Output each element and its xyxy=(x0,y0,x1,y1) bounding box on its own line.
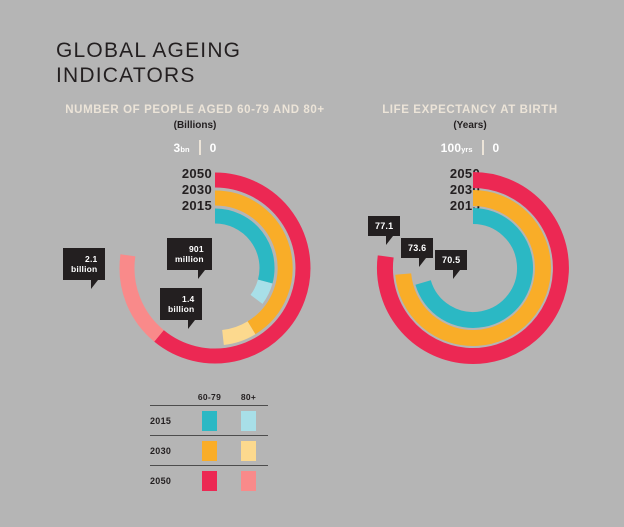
chart-legend: 60-79 80+ 2015 2030 2050 xyxy=(150,392,268,495)
legend-column-80-plus: 80+ xyxy=(229,392,268,402)
legend-row-2050: 2050 xyxy=(150,465,268,495)
callout-2050-life: 77.1 xyxy=(368,216,400,236)
callout-2015-life: 70.5 xyxy=(435,250,467,270)
arc-2050-80-plus xyxy=(127,255,159,336)
legend-swatch-2030-80-plus xyxy=(241,441,256,461)
callout-2050-value: 2.1 xyxy=(85,254,97,264)
legend-year-2015: 2015 xyxy=(150,416,190,426)
callout-2030-people: 1.4 billion xyxy=(160,288,202,320)
infographic-page: GLOBAL AGEING INDICATORS NUMBER OF PEOPL… xyxy=(0,0,624,527)
legend-cell-2050-80-plus xyxy=(229,471,268,491)
callout-2050-unit: billion xyxy=(71,264,97,274)
legend-cell-2015-60-79 xyxy=(190,411,229,431)
panel-life-expectancy: LIFE EXPECTANCY AT BIRTH (Years) 100yrs … xyxy=(340,0,600,380)
callout-2015-life-value: 70.5 xyxy=(442,255,460,265)
callout-2015-value: 901 xyxy=(189,244,204,254)
callout-2015-people: 901 million xyxy=(167,238,212,270)
legend-swatch-2015-80-plus xyxy=(241,411,256,431)
callout-tail xyxy=(198,270,205,279)
callout-2050-people: 2.1 billion xyxy=(63,248,105,280)
legend-row-2015: 2015 xyxy=(150,405,268,435)
callout-2030-value: 1.4 xyxy=(182,294,194,304)
callout-tail xyxy=(188,320,195,329)
legend-header-spacer xyxy=(150,392,190,402)
callout-2030-unit: billion xyxy=(168,304,194,314)
callout-tail xyxy=(91,280,98,289)
donut-chart-life-expectancy xyxy=(348,140,598,380)
legend-swatch-2030-60-79 xyxy=(202,441,217,461)
legend-cell-2015-80-plus xyxy=(229,411,268,431)
callout-tail xyxy=(453,270,460,279)
legend-header: 60-79 80+ xyxy=(150,392,268,405)
legend-year-2030: 2030 xyxy=(150,446,190,456)
arc-2015-80-plus xyxy=(257,282,266,300)
legend-year-2050: 2050 xyxy=(150,476,190,486)
arc-2050-life xyxy=(385,180,561,356)
panel-people-aged: NUMBER OF PEOPLE AGED 60-79 AND 80+ (Bil… xyxy=(30,0,360,380)
panel-subtitle-people-aged: (Billions) xyxy=(30,120,360,131)
arc-2030-80-plus xyxy=(223,328,252,338)
legend-swatch-2050-80-plus xyxy=(241,471,256,491)
legend-cell-2030-80-plus xyxy=(229,441,268,461)
legend-swatch-2015-60-79 xyxy=(202,411,217,431)
legend-cell-2050-60-79 xyxy=(190,471,229,491)
callout-2015-unit: million xyxy=(175,254,204,264)
arc-2015-60-79 xyxy=(215,216,267,282)
donut-chart-people-aged xyxy=(80,140,350,380)
panel-title-people-aged: NUMBER OF PEOPLE AGED 60-79 AND 80+ xyxy=(30,104,360,116)
callout-tail xyxy=(386,236,393,245)
legend-swatch-2050-60-79 xyxy=(202,471,217,491)
callout-2050-life-value: 77.1 xyxy=(375,221,393,231)
panel-subtitle-life-expectancy: (Years) xyxy=(340,120,600,131)
callout-2030-life-value: 73.6 xyxy=(408,243,426,253)
callout-tail xyxy=(419,258,426,267)
legend-cell-2030-60-79 xyxy=(190,441,229,461)
panel-title-life-expectancy: LIFE EXPECTANCY AT BIRTH xyxy=(340,104,600,116)
callout-2030-life: 73.6 xyxy=(401,238,433,258)
legend-column-60-79: 60-79 xyxy=(190,392,229,402)
legend-row-2030: 2030 xyxy=(150,435,268,465)
